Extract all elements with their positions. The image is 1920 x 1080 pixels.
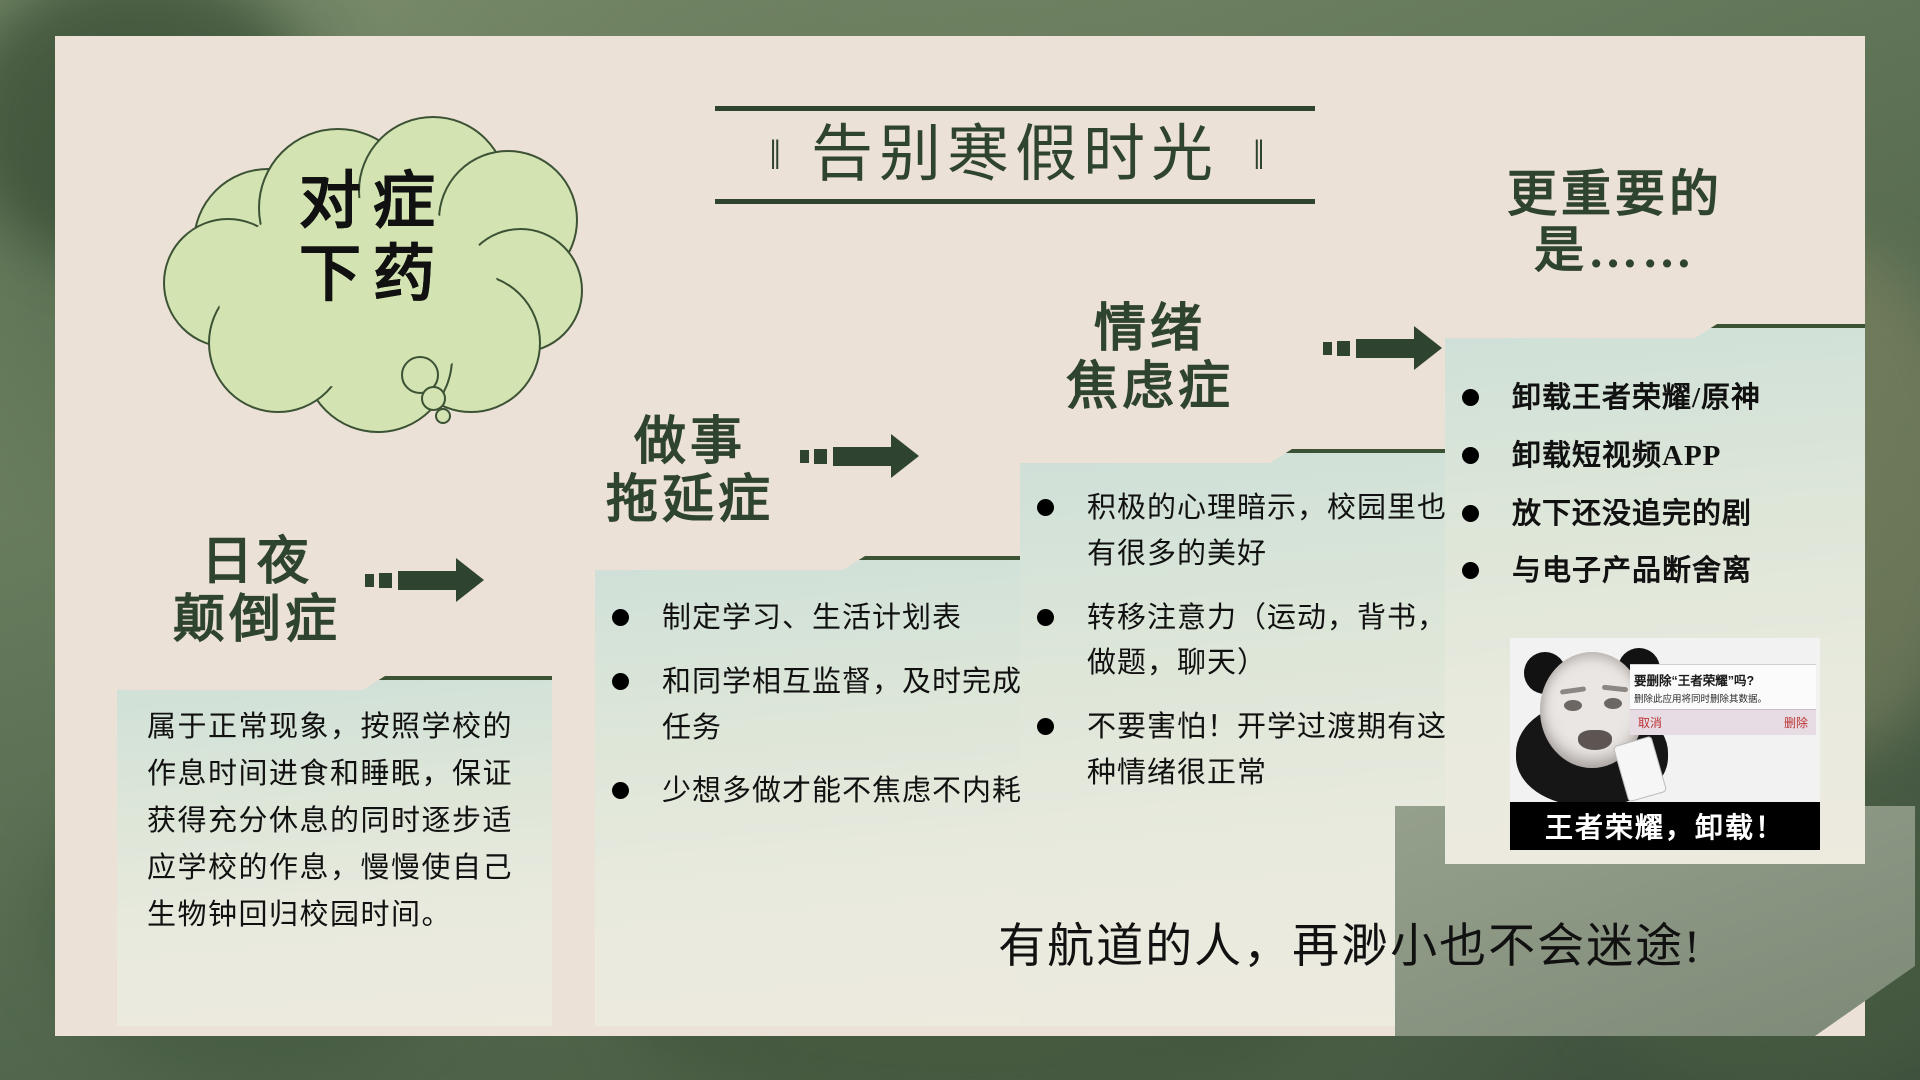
bullet-dot <box>612 673 629 690</box>
bullet-dot <box>1037 718 1054 735</box>
column-4-heading: 更重要的 是…… <box>1455 166 1775 278</box>
meme-image: 要删除“王者荣耀”吗? 删除此应用将同时删除其数据。 取消 删除 王者荣耀，卸载… <box>1510 638 1820 850</box>
title-rule-bottom <box>715 199 1315 204</box>
delete-dialog: 要删除“王者荣耀”吗? 删除此应用将同时删除其数据。 取消 删除 <box>1630 664 1816 735</box>
page-title: 告别寒假时光 <box>811 117 1219 195</box>
arrow-2-to-3 <box>800 434 919 478</box>
list-item: 和同学相互监督，及时完成任务 <box>600 660 1025 752</box>
bullet-dot <box>612 609 629 626</box>
column-3-heading: 情绪 焦虑症 <box>1020 301 1280 417</box>
dialog-subtext: 删除此应用将同时删除其数据。 <box>1634 691 1812 705</box>
column-4-bullets: 卸载王者荣耀/原神 卸载短视频APP 放下还没追完的剧 与电子产品断舍离 <box>1450 376 1870 607</box>
column-2-heading-line1: 做事 <box>560 414 820 472</box>
slide-card: 对症 下药 ‖ 告别寒假时光 ‖ 日夜 颠倒症 属于正常现象，按照学校的作息时间… <box>55 36 1865 1036</box>
column-3-heading-line1: 情绪 <box>1020 301 1280 359</box>
bullet-dot <box>1037 499 1054 516</box>
title-rule-top <box>715 106 1315 111</box>
delete-button[interactable]: 删除 <box>1784 714 1808 731</box>
slide-title-block: ‖ 告别寒假时光 ‖ <box>715 106 1315 204</box>
meme-photo: 要删除“王者荣耀”吗? 删除此应用将同时删除其数据。 取消 删除 <box>1510 638 1820 802</box>
list-item: 卸载王者荣耀/原神 <box>1450 376 1870 422</box>
bullet-dot <box>1462 562 1479 579</box>
cancel-button[interactable]: 取消 <box>1638 714 1662 731</box>
column-2-bullets: 制定学习、生活计划表 和同学相互监督，及时完成任务 少想多做才能不焦虑不内耗 <box>600 596 1025 833</box>
bullet-dot <box>1037 609 1054 626</box>
list-item: 转移注意力（运动，背书，做题，聊天） <box>1025 596 1455 688</box>
bullet-dot <box>1462 389 1479 406</box>
bullet-dot <box>612 782 629 799</box>
column-1-heading-line2: 颠倒症 <box>127 592 387 650</box>
list-item: 制定学习、生活计划表 <box>600 596 1025 642</box>
column-2-heading-line2: 拖延症 <box>560 472 820 530</box>
bullet-dot <box>1462 505 1479 522</box>
bubble-text: 对症 下药 <box>223 166 523 312</box>
column-2-heading: 做事 拖延症 <box>560 414 820 530</box>
list-item: 积极的心理暗示，校园里也有很多的美好 <box>1025 486 1455 578</box>
column-1-heading-line1: 日夜 <box>127 534 387 592</box>
column-4-heading-line2: 是…… <box>1455 222 1775 278</box>
list-item: 卸载短视频APP <box>1450 434 1870 480</box>
list-item: 不要害怕！开学过渡期有这种情绪很正常 <box>1025 705 1455 797</box>
column-1-heading: 日夜 颠倒症 <box>127 534 387 650</box>
title-mark-right: ‖ <box>1253 132 1261 180</box>
bubble-line-1: 对症 <box>223 166 523 239</box>
thought-bubble: 对症 下药 <box>163 98 583 418</box>
list-item: 少想多做才能不焦虑不内耗 <box>600 769 1025 815</box>
bullet-dot <box>1462 447 1479 464</box>
column-3-bullets: 积极的心理暗示，校园里也有很多的美好 转移注意力（运动，背书，做题，聊天） 不要… <box>1025 486 1455 815</box>
footer-slogan: 有航道的人，再渺小也不会迷途! <box>955 916 1745 979</box>
list-item: 放下还没追完的剧 <box>1450 492 1870 538</box>
column-3-heading-line2: 焦虑症 <box>1020 359 1280 417</box>
column-4-heading-line1: 更重要的 <box>1455 166 1775 222</box>
dialog-question: 要删除“王者荣耀”吗? <box>1634 670 1812 689</box>
bubble-line-2: 下药 <box>223 239 523 312</box>
meme-caption: 王者荣耀，卸载！ <box>1510 802 1820 850</box>
arrow-3-to-4 <box>1323 326 1442 370</box>
list-item: 与电子产品断舍离 <box>1450 549 1870 595</box>
arrow-1-to-2 <box>365 558 484 602</box>
title-mark-left: ‖ <box>769 132 777 180</box>
column-1-body: 属于正常现象，按照学校的作息时间进食和睡眠，保证获得充分休息的同时逐步适应学校的… <box>147 704 519 939</box>
